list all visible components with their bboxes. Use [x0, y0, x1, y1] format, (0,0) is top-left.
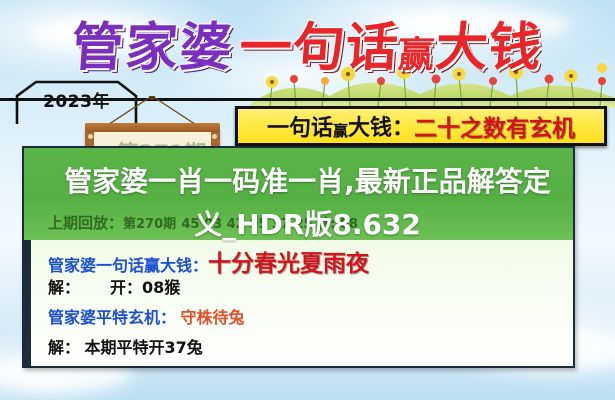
sign-peg-icon [88, 134, 93, 139]
content-rows: 上期回放：第270期 45 03 42 05 37 25 特: 08 管家婆一句… [24, 148, 573, 366]
row-previous-draw: 上期回放：第270期 45 03 42 05 37 25 特: 08 [48, 212, 358, 233]
content-card: 上期回放：第270期 45 03 42 05 37 25 特: 08 管家婆一句… [22, 146, 575, 368]
tip-value: 十分春光夏雨夜 [208, 251, 369, 277]
replay-label: 上期回放： [48, 214, 123, 232]
omen-label: 管家婆平特玄机： [48, 308, 176, 327]
banner-highlight-text: 二十之数有玄机 [414, 109, 575, 143]
yellow-highlight-banner: 一句话赢大钱： 二十之数有玄机 [235, 106, 607, 146]
poster-canvas: 管家婆 一句话赢大钱 2023年 第271期 [0, 0, 615, 400]
cloud-shape [380, 10, 570, 40]
replay-issue: 第270期 [123, 217, 176, 232]
answer-open-value: 开：08猴 [110, 278, 180, 297]
answer-label: 解： [48, 278, 80, 297]
result-value: 本期平特开37兔 [84, 338, 202, 357]
replay-numbers: 45 03 42 05 37 25 特: 08 [181, 217, 358, 232]
row-result: 解： 本期平特开37兔 [48, 334, 203, 358]
row-answer: 解：开：08猴 [48, 274, 180, 298]
row-omen: 管家婆平特玄机： 守株待兔 [48, 304, 244, 328]
omen-value: 守株待兔 [180, 308, 244, 327]
sign-top-bar [85, 123, 220, 132]
row-tip: 管家婆一句话赢大钱：十分春光夏雨夜 [48, 244, 369, 278]
banner-prefix-text: 一句话赢大钱： [267, 110, 414, 142]
cloud-shape [30, 18, 180, 52]
result-label: 解： [48, 338, 80, 357]
tip-label: 管家婆一句话赢大钱： [48, 256, 208, 275]
